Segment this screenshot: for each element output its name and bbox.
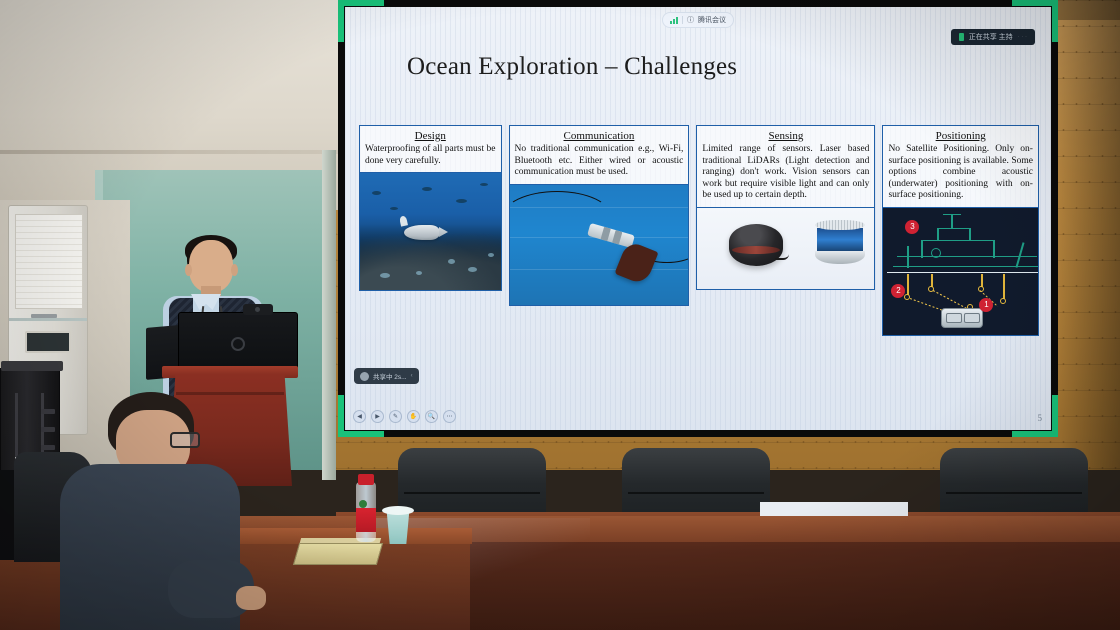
transducer-pole [907,274,908,296]
next-slide-button[interactable]: ▶ [371,410,384,423]
pen-annotate-button[interactable]: ✎ [389,410,402,423]
lidar-cable [775,254,789,260]
card-text: No Satellite Positioning. Only on-surfac… [888,144,1033,202]
ac-seam [9,318,87,321]
tencent-badge-label: 腾讯会议 [698,15,726,25]
card-heading: Sensing [702,130,869,142]
card-text: Limited range of sensors. Laser based tr… [702,144,869,202]
sharing-status-label: 正在共享 主持 [969,32,1013,42]
signal-icon [670,17,678,24]
paper-sheet [760,502,908,516]
card-sensing: Sensing Limited range of sensors. Laser … [696,125,875,290]
divider [682,16,683,24]
card-text: Waterproofing of all parts must be done … [365,144,496,167]
slide-canvas: ⓘ 腾讯会议 正在共享 主持 · · · Ocean Exploration –… [345,7,1051,430]
conference-room-scene: ⓘ 腾讯会议 正在共享 主持 · · · Ocean Exploration –… [0,0,1120,630]
bezel-accent [338,431,384,437]
yellow-notebook [293,543,383,565]
card-text-block: Positioning No Satellite Positioning. On… [883,126,1038,207]
marker-1: 1 [979,298,993,312]
marker-2: 2 [891,284,905,298]
transducer-pole [1003,274,1004,300]
lidar-cylinder-blue [815,220,865,268]
transducer-node [1000,298,1006,304]
sharing-status-secondary: · · · [1018,34,1027,40]
dell-monitor [178,312,298,374]
slide-title: Ocean Exploration – Challenges [407,53,737,81]
card-positioning: Positioning No Satellite Positioning. On… [882,125,1039,336]
rack-slot [41,409,55,414]
underwater-vehicle [941,308,983,328]
cup-rim [382,506,414,515]
water-line [887,272,1038,274]
lock-icon: ⓘ [687,15,694,25]
rack-slot [41,445,55,450]
wall-edge-trim [322,150,336,480]
mini-pill-label: 共享中 2s... [373,371,407,381]
slide-page-number: 5 [1038,413,1043,423]
ac-display-panel [25,331,71,353]
card-heading: Communication [515,130,684,142]
ac-grill [15,214,83,309]
slide-toolbar[interactable]: ◀ ▶ ✎ ✋ 🔍 ⋯ [353,410,456,423]
sharing-status-badge[interactable]: 正在共享 主持 · · · [951,29,1035,45]
presentation-display[interactable]: ⓘ 腾讯会议 正在共享 主持 · · · Ocean Exploration –… [338,0,1058,437]
positioning-diagram-figure: 1 2 3 [883,207,1038,335]
dell-logo-icon [231,337,245,351]
zoom-button[interactable]: 🔍 [425,410,438,423]
presenter-head [189,240,233,292]
card-heading: Positioning [888,130,1033,142]
webcam [243,304,273,315]
previous-slide-button[interactable]: ◀ [353,410,366,423]
collapse-chevron-icon[interactable]: ‹ [411,373,413,379]
sharing-control-pill[interactable]: 共享中 2s... ‹ [354,368,419,384]
sharing-indicator-icon [959,33,964,41]
card-text-block: Sensing Limited range of sensors. Laser … [697,126,874,207]
card-text-block: Design Waterproofing of all parts must b… [360,126,501,172]
bezel-accent [1012,0,1058,6]
lidar-sensors-figure [697,207,874,289]
presenter-avatar-icon [360,372,369,381]
attendee-hand [236,586,266,610]
bezel-accent [1052,0,1058,42]
wall-right-shadow [1060,0,1120,470]
card-design: Design Waterproofing of all parts must b… [359,125,502,291]
bottle-label [356,508,376,532]
bezel-accent [338,0,344,42]
seated-attendee [60,392,240,630]
bottle-cap [358,474,374,485]
robot-body [587,223,635,248]
eyeglasses [170,432,200,448]
rack-slot [41,427,55,432]
card-text-block: Communication No traditional communicati… [510,126,689,184]
coral-reef [360,224,501,291]
card-heading: Design [365,130,496,142]
card-communication: Communication No traditional communicati… [509,125,690,306]
presenter-ear [185,264,192,276]
tethered-robot-figure [510,184,689,305]
bezel-accent [338,0,384,6]
card-text: No traditional communication e.g., Wi-Fi… [515,144,684,179]
tencent-meeting-badge[interactable]: ⓘ 腾讯会议 [662,12,734,28]
underwater-reef-figure [360,172,501,290]
laser-pointer-button[interactable]: ✋ [407,410,420,423]
rack-top [1,361,63,371]
bezel-accent [1012,431,1058,437]
more-options-button[interactable]: ⋯ [443,410,456,423]
presenter-ear [231,264,238,276]
challenge-cards: Design Waterproofing of all parts must b… [359,125,1039,336]
